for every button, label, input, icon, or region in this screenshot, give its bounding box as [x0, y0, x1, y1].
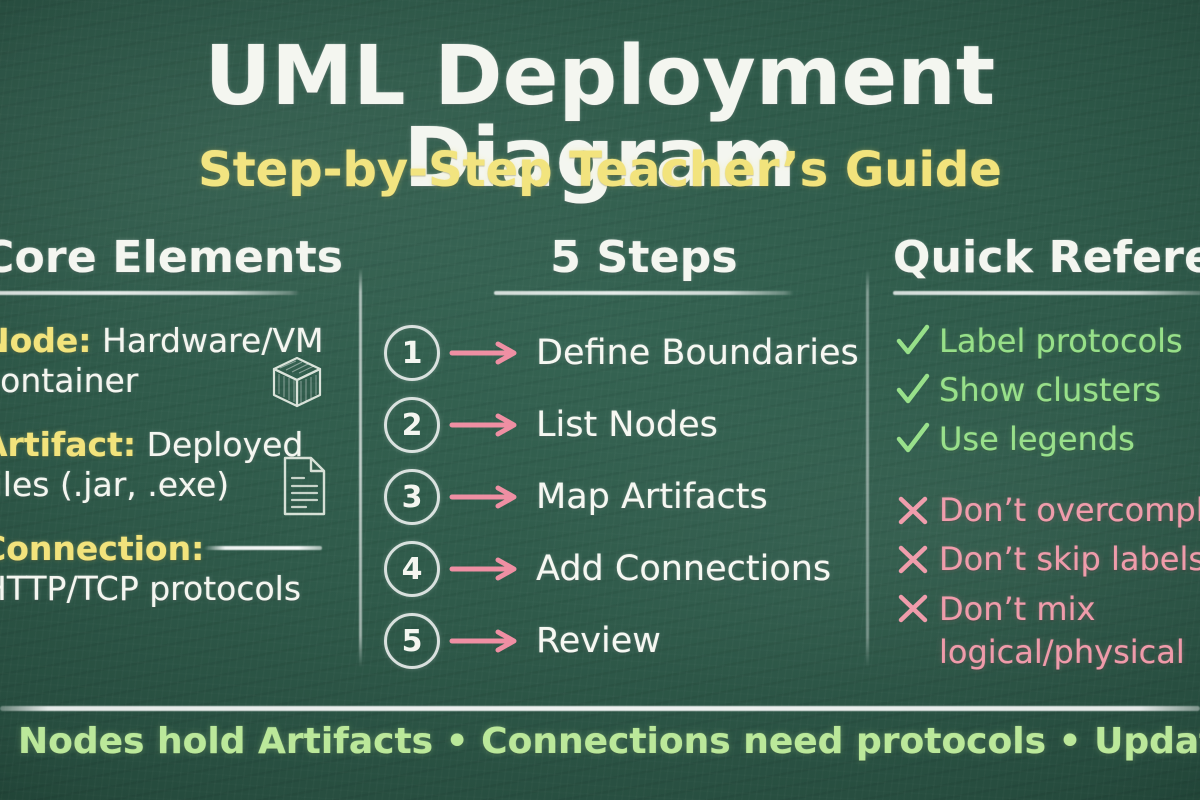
- footer-divider: [0, 706, 1200, 711]
- cross-icon: [893, 539, 939, 579]
- column-divider-left: [359, 268, 362, 668]
- reference-dont-label: Don’t mix logical/physical: [939, 588, 1200, 674]
- column-divider-right: [866, 268, 869, 668]
- reference-dont-label: Don’t skip labels: [939, 539, 1200, 579]
- steps-column: 5 Steps 1 Define Boundaries 2 List Nodes…: [384, 236, 854, 677]
- check-icon: [893, 370, 939, 410]
- arrow-right-icon: [448, 411, 528, 439]
- core-item-node: Node: Hardware/VM container: [0, 321, 334, 401]
- step-label: Define Boundaries: [536, 336, 859, 371]
- reference-do-label: Show clusters: [939, 370, 1161, 410]
- step-number-badge: 2: [384, 397, 440, 453]
- core-item-node-label: Node:: [0, 321, 92, 360]
- reference-do-item: Label protocols: [893, 321, 1200, 364]
- step-label: List Nodes: [536, 408, 718, 443]
- check-icon: [893, 321, 939, 361]
- core-elements-column: Core Elements Node: Hardware/VM containe…: [0, 236, 334, 633]
- reference-section-gap: [893, 468, 1200, 490]
- reference-do-label: Use legends: [939, 419, 1135, 459]
- arrow-right-icon: [448, 483, 528, 511]
- cross-icon: [893, 588, 939, 628]
- check-icon: [893, 419, 939, 459]
- chalkboard: UML Deployment Diagram Step-by-Step Teac…: [0, 0, 1200, 800]
- step-row: 2 List Nodes: [384, 389, 854, 461]
- step-label: Add Connections: [536, 552, 831, 587]
- reference-dont-item: Don’t mix logical/physical: [893, 588, 1200, 674]
- core-item-connection-label: Connection:: [0, 529, 204, 568]
- arrow-right-icon: [448, 627, 528, 655]
- step-number-badge: 4: [384, 541, 440, 597]
- core-elements-heading: Core Elements: [0, 236, 334, 280]
- arrow-right-icon: [448, 555, 528, 583]
- core-item-connection: Connection: HTTP/TCP protocols: [0, 529, 334, 609]
- step-label: Review: [536, 624, 661, 659]
- step-row: 4 Add Connections: [384, 533, 854, 605]
- step-number-badge: 1: [384, 325, 440, 381]
- line-icon: [204, 546, 322, 550]
- core-item-artifact-label: Artifact:: [0, 425, 136, 464]
- reference-dont-label: Don’t overcomplicate: [939, 490, 1200, 530]
- quick-reference-heading: Quick Reference: [893, 236, 1200, 280]
- cross-icon: [893, 490, 939, 530]
- core-item-artifact: Artifact: Deployed files (.jar, .exe): [0, 425, 334, 505]
- reference-do-item: Show clusters: [893, 370, 1200, 413]
- core-item-connection-text: HTTP/TCP protocols: [0, 569, 334, 609]
- step-number-badge: 5: [384, 613, 440, 669]
- quick-reference-underline: [893, 291, 1200, 295]
- step-number-badge: 3: [384, 469, 440, 525]
- steps-heading: 5 Steps: [494, 236, 794, 280]
- core-elements-underline: [0, 291, 300, 295]
- step-row: 5 Review: [384, 605, 854, 677]
- steps-list: 1 Define Boundaries 2 List Nodes 3 Map A…: [384, 317, 854, 677]
- quick-reference-column: Quick Reference Label protocols Show clu…: [893, 236, 1200, 680]
- step-row: 1 Define Boundaries: [384, 317, 854, 389]
- page-subtitle: Step-by-Step Teacher’s Guide: [0, 146, 1200, 194]
- footer-summary: Nodes hold Artifacts • Connections need …: [18, 724, 1200, 760]
- arrow-right-icon: [448, 339, 528, 367]
- reference-dont-item: Don’t skip labels: [893, 539, 1200, 582]
- reference-do-label: Label protocols: [939, 321, 1183, 361]
- quick-reference-list: Label protocols Show clusters Use legend…: [893, 321, 1200, 674]
- steps-underline: [494, 291, 794, 295]
- document-icon: [276, 453, 332, 523]
- step-label: Map Artifacts: [536, 480, 768, 515]
- step-row: 3 Map Artifacts: [384, 461, 854, 533]
- reference-do-item: Use legends: [893, 419, 1200, 462]
- reference-dont-item: Don’t overcomplicate: [893, 490, 1200, 533]
- core-elements-list: Node: Hardware/VM container: [0, 321, 334, 609]
- cube-icon: [266, 351, 328, 417]
